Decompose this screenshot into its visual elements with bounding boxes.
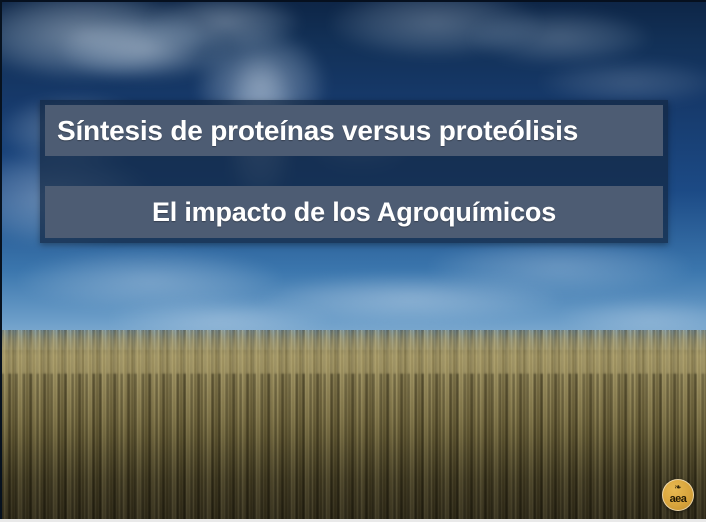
cloud-wisp	[430, 240, 690, 295]
field-focus-blur	[0, 330, 706, 522]
wheat-field-region	[0, 330, 706, 522]
presentation-slide: Síntesis de proteínas versus proteólisis…	[0, 0, 706, 522]
logo-wordmark: aea	[663, 493, 693, 505]
title-plate: Síntesis de proteínas versus proteólisis…	[40, 100, 668, 243]
slide-subtitle: El impacto de los Agroquímicos	[152, 199, 556, 226]
subtitle-bar: El impacto de los Agroquímicos	[45, 186, 663, 238]
slide-left-edge	[0, 0, 2, 522]
slide-title: Síntesis de proteínas versus proteólisis	[57, 117, 578, 145]
background-photo	[0, 0, 706, 522]
slide-top-edge	[0, 0, 706, 2]
logo-ornament-icon: ❧	[663, 483, 693, 492]
cloud-wisp	[470, 10, 650, 65]
title-bar: Síntesis de proteínas versus proteólisis	[45, 105, 663, 156]
cloud-wisp	[540, 60, 706, 105]
aea-logo: ❧ aea	[662, 479, 694, 511]
